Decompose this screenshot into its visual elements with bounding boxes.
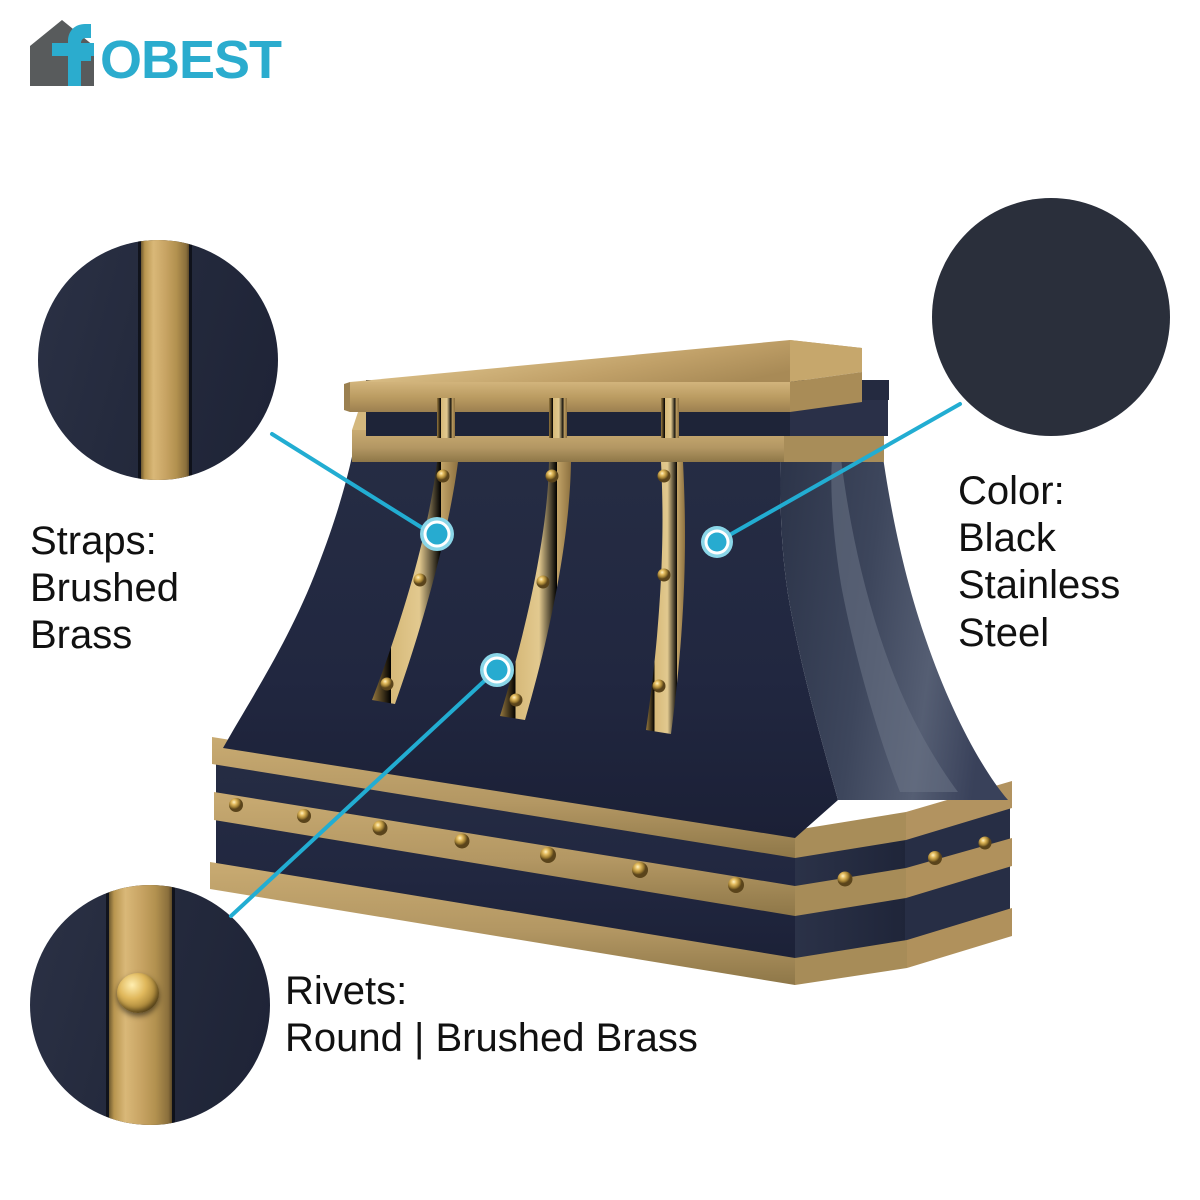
callout-dot-straps[interactable]	[420, 517, 454, 551]
leader-line-straps	[272, 434, 432, 534]
infographic-canvas: OBEST	[0, 0, 1200, 1200]
callout-dot-rivets[interactable]	[480, 653, 514, 687]
leader-line-color	[719, 404, 960, 541]
callout-dot-color[interactable]	[701, 526, 733, 558]
leader-line-rivets	[231, 672, 494, 916]
callout-leader-layer	[0, 0, 1200, 1200]
